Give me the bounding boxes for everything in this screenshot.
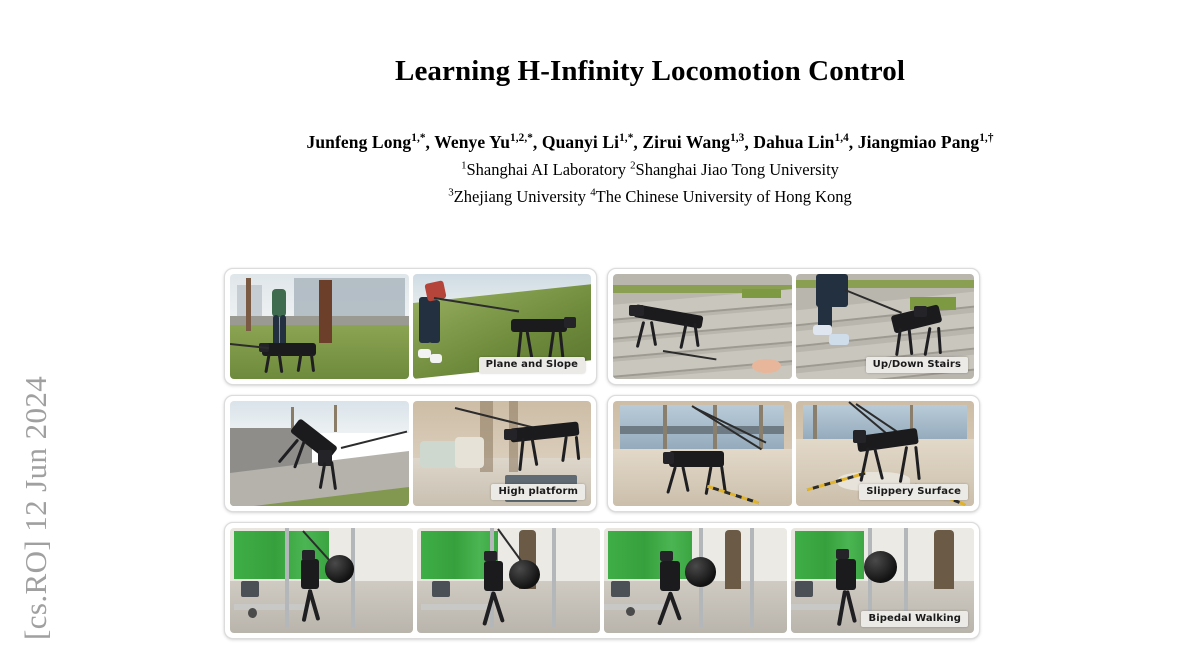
author-separator: , bbox=[849, 132, 858, 152]
scene-bipedal-frame-2 bbox=[417, 528, 600, 633]
author-list: Junfeng Long1,*, Wenye Yu1,2,*, Quanyi L… bbox=[100, 132, 1200, 154]
figure-row: High platform bbox=[224, 395, 980, 512]
affiliation-line-1: 1Shanghai AI Laboratory 2Shanghai Jiao T… bbox=[100, 159, 1200, 181]
panel-caption: Bipedal Walking bbox=[861, 611, 968, 627]
affiliation-entry: 2Shanghai Jiao Tong University bbox=[630, 160, 839, 179]
author-entry: Junfeng Long1,* bbox=[306, 132, 425, 152]
affiliation-name: The Chinese University of Hong Kong bbox=[596, 187, 852, 206]
author-affil-marker: 1,* bbox=[411, 132, 425, 144]
arxiv-stamp-text: [cs.RO] 12 Jun 2024 bbox=[18, 376, 54, 648]
panel-caption: Plane and Slope bbox=[479, 357, 585, 373]
affiliation-name: Shanghai AI Laboratory bbox=[467, 160, 626, 179]
figure-shot bbox=[604, 528, 787, 633]
author-name: Jiangmiao Pang bbox=[858, 132, 979, 152]
figure-shot bbox=[230, 274, 409, 379]
figure-panel-up-down-stairs: Up/Down Stairs bbox=[607, 268, 980, 385]
figure-row: Bipedal Walking bbox=[224, 522, 980, 639]
figure-shot bbox=[230, 401, 409, 506]
scene-robot-on-grass-with-person bbox=[230, 274, 409, 379]
author-entry: Zirui Wang1,3 bbox=[642, 132, 744, 152]
author-name: Dahua Lin bbox=[753, 132, 834, 152]
author-entry: Quanyi Li1,* bbox=[542, 132, 634, 152]
scene-robot-descending-stairs bbox=[613, 274, 792, 379]
figure-shot: Plane and Slope bbox=[413, 274, 592, 379]
affiliation-line-2: 3Zhejiang University 4The Chinese Univer… bbox=[100, 186, 1200, 208]
figure-shot: Up/Down Stairs bbox=[796, 274, 975, 379]
author-separator: , bbox=[426, 132, 435, 152]
page-title: Learning H-Infinity Locomotion Control bbox=[100, 56, 1200, 88]
figure-shot: Bipedal Walking bbox=[791, 528, 974, 633]
figure-shot bbox=[230, 528, 413, 633]
teaser-figure: Plane and Slope bbox=[224, 268, 980, 649]
affiliation-entry: 1Shanghai AI Laboratory bbox=[461, 160, 626, 179]
affiliation-entry: 3Zhejiang University bbox=[448, 187, 586, 206]
scene-bipedal-frame-1 bbox=[230, 528, 413, 633]
scene-bipedal-frame-3 bbox=[604, 528, 787, 633]
figure-shot bbox=[613, 401, 792, 506]
figure-panel-plane-and-slope: Plane and Slope bbox=[224, 268, 597, 385]
author-separator: , bbox=[744, 132, 753, 152]
scene-robot-on-concrete-ledge bbox=[230, 401, 409, 506]
author-separator: , bbox=[533, 132, 542, 152]
author-name: Zirui Wang bbox=[642, 132, 730, 152]
figure-shot: Slippery Surface bbox=[796, 401, 975, 506]
author-name: Wenye Yu bbox=[434, 132, 510, 152]
author-name: Quanyi Li bbox=[542, 132, 619, 152]
author-name: Junfeng Long bbox=[306, 132, 411, 152]
panel-caption: Slippery Surface bbox=[859, 484, 968, 500]
affiliation-name: Zhejiang University bbox=[454, 187, 586, 206]
author-affil-marker: 1,3 bbox=[730, 132, 744, 144]
figure-shot: High platform bbox=[413, 401, 592, 506]
panel-caption: Up/Down Stairs bbox=[866, 357, 968, 373]
author-entry: Jiangmiao Pang1,† bbox=[858, 132, 994, 152]
arxiv-stamp: [cs.RO] 12 Jun 2024 bbox=[0, 0, 72, 648]
paper-body: Learning H-Infinity Locomotion Control J… bbox=[100, 0, 1200, 648]
figure-row: Plane and Slope bbox=[224, 268, 980, 385]
affiliation-entry: 4The Chinese University of Hong Kong bbox=[590, 187, 852, 206]
figure-shot bbox=[417, 528, 600, 633]
author-affil-marker: 1,* bbox=[619, 132, 633, 144]
figure-panel-high-platform: High platform bbox=[224, 395, 597, 512]
author-affil-marker: 1,4 bbox=[835, 132, 849, 144]
affiliation-name: Shanghai Jiao Tong University bbox=[636, 160, 839, 179]
author-entry: Wenye Yu1,2,* bbox=[434, 132, 533, 152]
scene-robot-on-polished-hall-floor bbox=[613, 401, 792, 506]
author-affil-marker: 1,† bbox=[979, 132, 993, 144]
author-entry: Dahua Lin1,4 bbox=[753, 132, 848, 152]
author-affil-marker: 1,2,* bbox=[510, 132, 533, 144]
figure-shot bbox=[613, 274, 792, 379]
panel-caption: High platform bbox=[491, 484, 585, 500]
figure-panel-slippery-surface: Slippery Surface bbox=[607, 395, 980, 512]
figure-panel-bipedal-walking: Bipedal Walking bbox=[224, 522, 980, 639]
